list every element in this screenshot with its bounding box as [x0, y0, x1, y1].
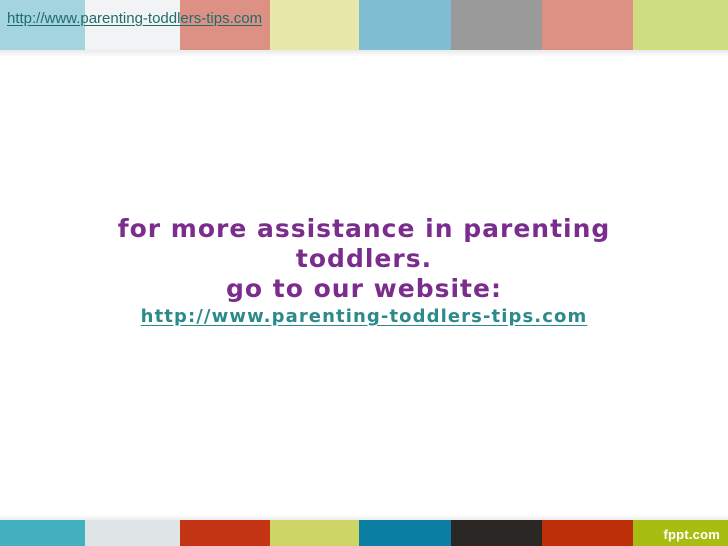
fppt-watermark: fppt.com — [664, 527, 720, 542]
slide-content: for more assistance in parenting toddler… — [0, 214, 728, 330]
swatch-deep-blue — [359, 520, 451, 546]
swatch-yellow-green — [633, 0, 728, 50]
header-website-link[interactable]: http://www.parenting-toddlers-tips.com — [7, 9, 262, 28]
swatch-salmon-2 — [542, 0, 634, 50]
headline-line-3: go to our website: — [0, 274, 728, 304]
swatch-gray — [451, 0, 542, 50]
headline: for more assistance in parenting toddler… — [0, 214, 728, 304]
bottom-color-band — [0, 520, 728, 546]
swatch-off-white — [85, 520, 180, 546]
body-website-link[interactable]: http://www.parenting-toddlers-tips.com — [141, 306, 588, 327]
swatch-rust — [180, 520, 270, 546]
swatch-rust-2 — [542, 520, 634, 546]
swatch-charcoal — [451, 520, 542, 546]
headline-line-2: toddlers. — [0, 244, 728, 274]
presentation-slide: http://www.parenting-toddlers-tips.com f… — [0, 0, 728, 546]
swatch-blue — [359, 0, 451, 50]
swatch-pale-yellow — [270, 0, 359, 50]
swatch-teal — [0, 520, 85, 546]
headline-line-1: for more assistance in parenting — [0, 214, 728, 244]
swatch-yellow-green — [270, 520, 359, 546]
top-band-shadow — [0, 50, 728, 57]
